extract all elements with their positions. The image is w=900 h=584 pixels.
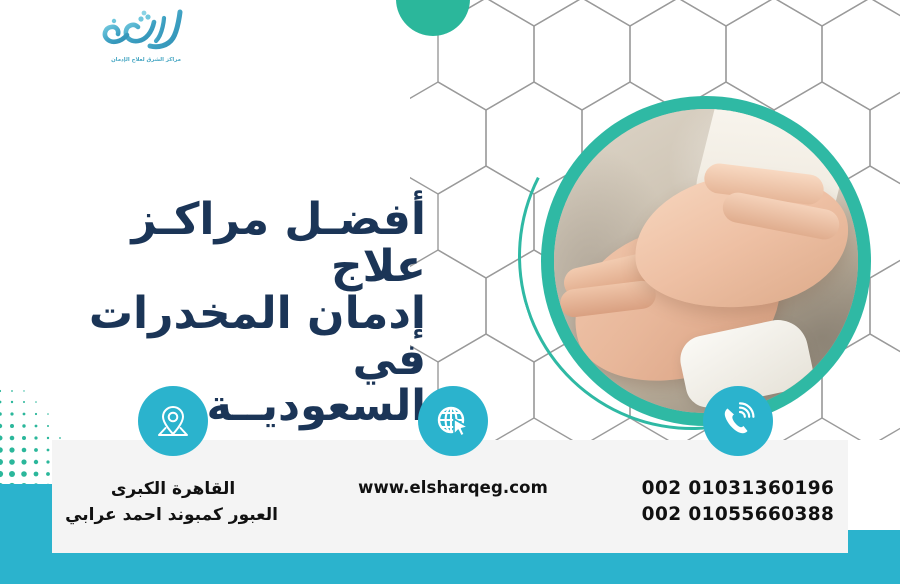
contact-location-text: القاهرة الكبرى العبور كمبوند احمد عرابي [68,476,278,529]
brand-logo[interactable]: مراكز الشرق لعلاج الإدمان [92,8,200,72]
logo-subtitle: مراكز الشرق لعلاج الإدمان [92,57,200,63]
contact-phone-text: 002 01031360196 002 01055660388 [628,476,848,529]
contact-location-line-2: العبور كمبوند احمد عرابي [68,502,278,528]
contact-phone[interactable]: 002 01031360196 002 01055660388 [628,386,848,529]
headline-line-2: إدمان المخدرات في [34,291,426,384]
hero-photo-frame [541,96,871,426]
contact-location[interactable]: القاهرة الكبرى العبور كمبوند احمد عرابي [68,386,278,529]
teal-circle-accent [396,0,470,36]
contact-phone-number-1[interactable]: 002 01031360196 [628,476,848,502]
arabic-calligraphy-logo-icon [94,8,198,56]
contact-website-url[interactable]: www.elsharqeg.com [348,476,558,501]
globe-cursor-icon [418,386,488,456]
contact-website-text: www.elsharqeg.com [348,476,558,501]
location-pin-icon [138,386,208,456]
headline-line-1: أفضـل مراكـز علاج [34,197,426,290]
contact-phone-number-2[interactable]: 002 01055660388 [628,502,848,528]
contact-location-line-1: القاهرة الكبرى [68,476,278,502]
promotional-banner: مراكز الشرق لعلاج الإدمان أفضـل مراكـز ع… [0,0,900,584]
phone-call-icon [703,386,773,456]
hands-holding-image [554,109,858,413]
contact-website[interactable]: www.elsharqeg.com [348,386,558,501]
